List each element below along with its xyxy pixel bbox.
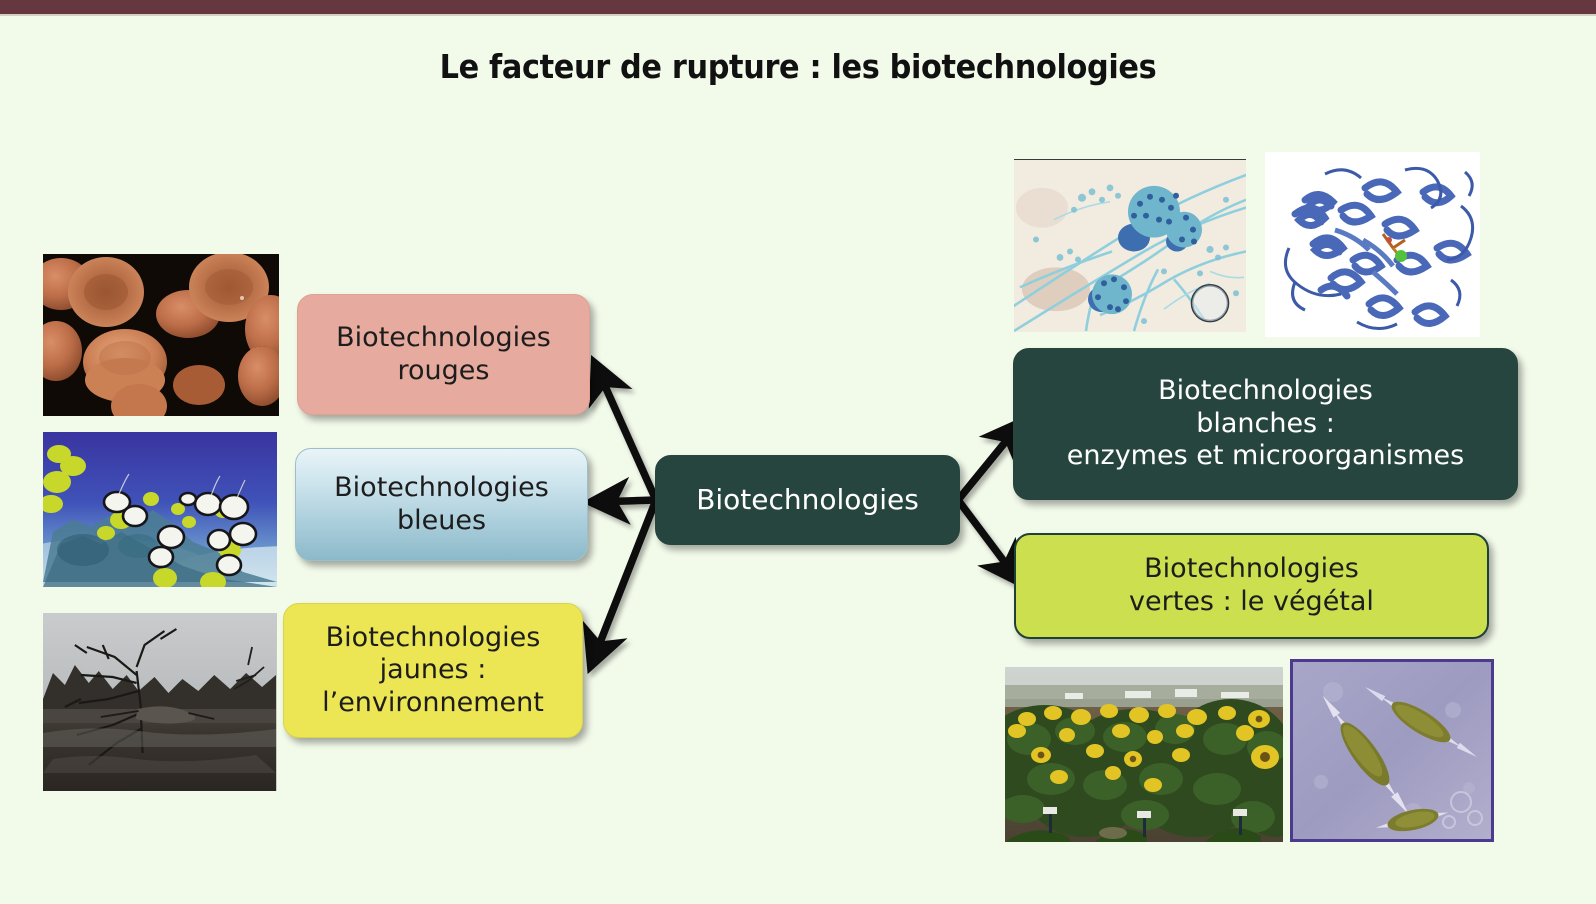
arrow-center-to-vertes	[958, 500, 1018, 580]
page-title: Le facteur de rupture : les biotechnolog…	[64, 47, 1532, 86]
top-decorative-bar	[0, 0, 1596, 14]
protein-ribbon-diagram	[1265, 152, 1480, 337]
node-biotechnologies-jaunes[interactable]: Biotechnologies jaunes : l’environnement	[283, 603, 583, 738]
diatom-microscopy-photo	[1290, 659, 1494, 842]
node-jaunes-label: Biotechnologies jaunes : l’environnement	[284, 622, 582, 720]
node-blanches-label: Biotechnologies blanches : enzymes et mi…	[1014, 375, 1517, 473]
arrow-center-to-blanches	[958, 424, 1020, 500]
arrow-center-to-rouges	[596, 366, 656, 500]
red-blood-cells-photo	[43, 254, 279, 416]
arrow-center-to-jaunes	[592, 500, 656, 663]
burnt-landscape-photo	[43, 613, 277, 791]
node-rouges-label: Biotechnologies rouges	[298, 322, 589, 387]
coral-reef-fish-photo	[43, 432, 277, 587]
arrow-center-to-bleues	[594, 500, 656, 502]
node-biotechnologies-vertes[interactable]: Biotechnologies vertes : le végétal	[1014, 533, 1489, 639]
node-biotechnologies-center[interactable]: Biotechnologies	[655, 455, 960, 545]
node-biotechnologies-blanches[interactable]: Biotechnologies blanches : enzymes et mi…	[1013, 348, 1518, 500]
sunflower-field-photo	[1005, 667, 1283, 842]
node-center-label: Biotechnologies	[656, 483, 959, 517]
node-biotechnologies-bleues[interactable]: Biotechnologies bleues	[295, 448, 588, 561]
fungus-microscopy-photo	[1014, 159, 1246, 332]
node-bleues-label: Biotechnologies bleues	[296, 472, 587, 537]
node-vertes-label: Biotechnologies vertes : le végétal	[1016, 553, 1487, 618]
node-biotechnologies-rouges[interactable]: Biotechnologies rouges	[297, 294, 590, 415]
top-bar-underline	[0, 14, 1596, 16]
